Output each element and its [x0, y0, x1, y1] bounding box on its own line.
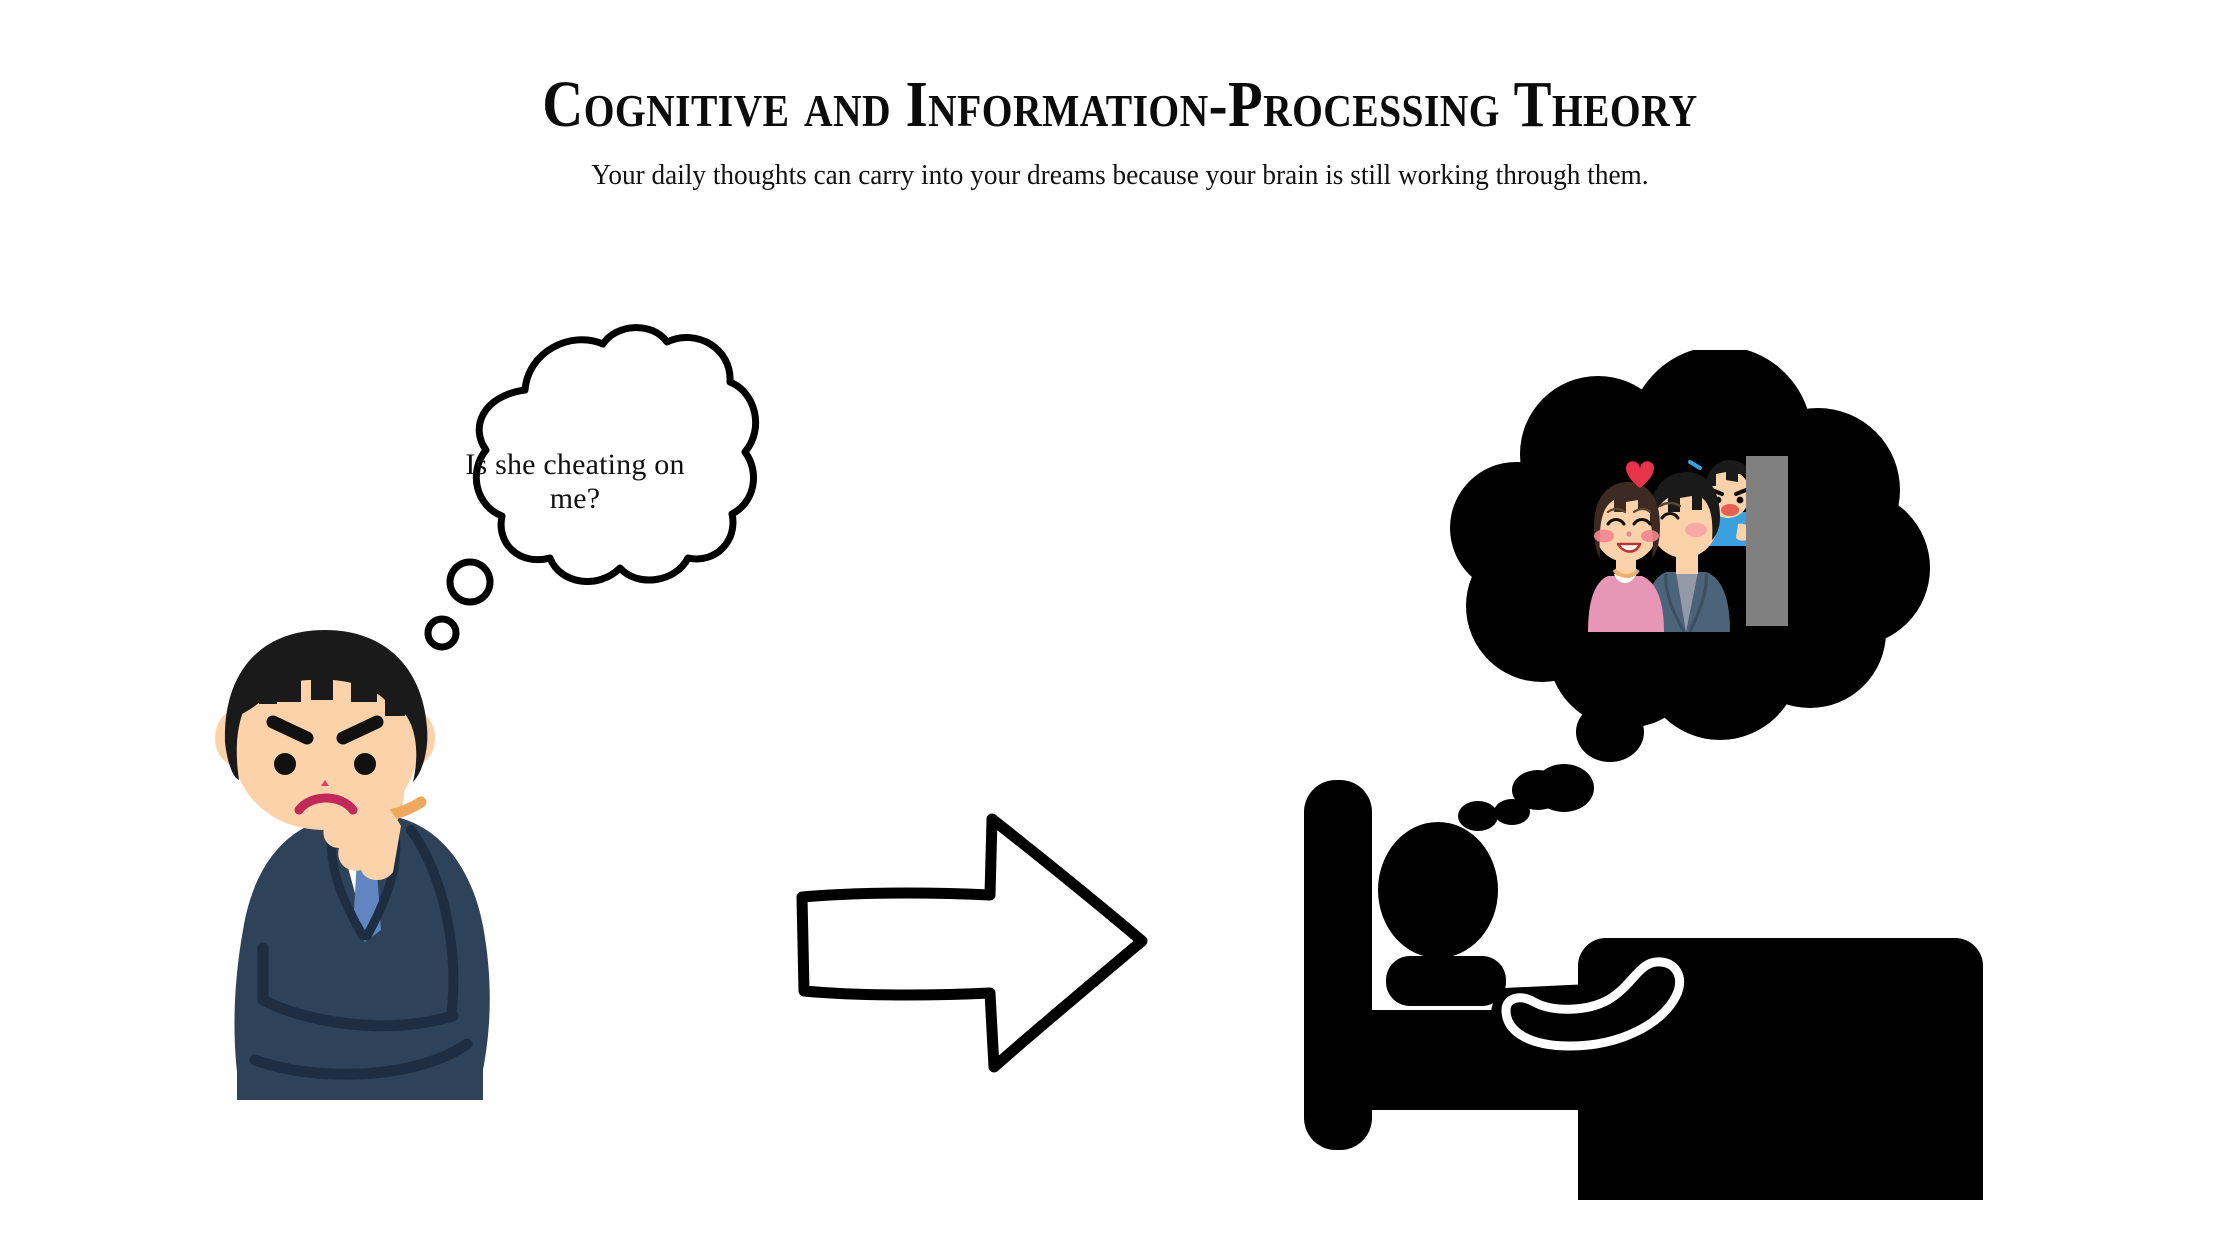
pillar	[1746, 456, 1788, 626]
page-subtitle: Your daily thoughts can carry into your …	[67, 138, 2173, 193]
thinker-bubble-text: Is she cheating on me?	[440, 448, 710, 516]
transition-arrow-right	[790, 805, 1170, 1085]
sleeping-person-bed-pictogram	[1290, 760, 2010, 1200]
dream-inner-scene	[1580, 450, 1800, 632]
page-title: Cognitive and Information-Processing The…	[157, 0, 2083, 138]
pillow	[1386, 956, 1506, 1006]
sleep-bubble-small	[1494, 799, 1530, 825]
couple-woman	[1588, 482, 1664, 632]
sleep-bubble-medium	[1534, 764, 1594, 812]
awake-worried-man	[215, 630, 515, 1210]
header: Cognitive and Information-Processing The…	[0, 0, 2240, 193]
sleeper-head	[1378, 822, 1498, 958]
